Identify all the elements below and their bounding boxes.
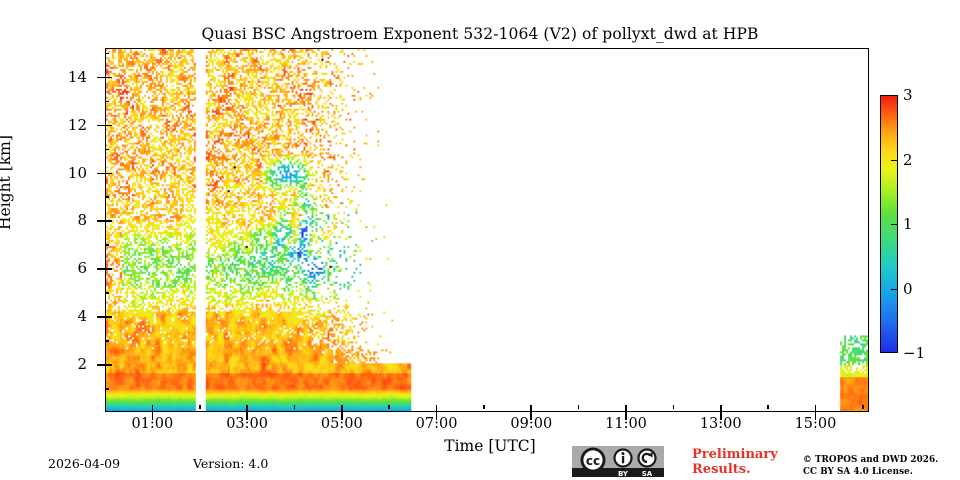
colorbar-tick-label: 2	[903, 151, 913, 169]
x-tick-mark	[436, 412, 438, 420]
heatmap-canvas	[106, 49, 868, 411]
y-tick-mark	[97, 173, 105, 175]
colorbar-tick-label: 1	[903, 215, 913, 233]
x-tick-mark-minor	[767, 405, 769, 409]
colorbar-tick-label: 0	[903, 280, 913, 298]
y-tick-mark	[105, 364, 112, 366]
x-tick-mark	[246, 405, 248, 412]
y-tick-mark	[97, 316, 105, 318]
page-title: Quasi BSC Angstroem Exponent 532-1064 (V…	[0, 25, 960, 43]
x-tick-mark	[530, 405, 532, 412]
plot-area	[105, 48, 869, 412]
preliminary-line-1: Preliminary	[692, 448, 778, 463]
colorbar-tick-mark	[891, 289, 898, 290]
colorbar-tick-mark	[891, 224, 898, 225]
y-tick-mark	[105, 173, 112, 175]
x-tick-mark	[436, 405, 438, 412]
x-tick-mark-minor	[483, 405, 485, 409]
x-tick-mark-minor	[862, 405, 864, 409]
y-tick-label: 14	[27, 68, 87, 86]
y-tick-mark-minor	[105, 340, 109, 342]
badge-by-label: BY	[618, 470, 629, 477]
x-tick-mark	[341, 405, 343, 412]
colorbar-tick-label: 3	[903, 86, 913, 104]
x-tick-mark	[246, 412, 248, 420]
y-tick-mark	[105, 125, 112, 127]
y-tick-mark	[97, 77, 105, 79]
x-tick-mark	[625, 405, 627, 412]
x-axis-label: Time [UTC]	[0, 437, 960, 455]
copyright-notice: © TROPOS and DWD 2026. CC BY SA 4.0 Lice…	[803, 455, 938, 478]
y-tick-mark	[105, 220, 112, 222]
x-tick-mark-minor	[294, 405, 296, 409]
x-tick-mark	[625, 412, 627, 420]
y-tick-label: 6	[27, 259, 87, 277]
y-tick-mark	[105, 268, 112, 270]
y-tick-mark	[105, 316, 112, 318]
preliminary-line-2: Results.	[692, 463, 778, 478]
y-tick-label: 8	[27, 211, 87, 229]
y-axis-label: Height [km]	[0, 135, 14, 230]
y-tick-mark-minor	[105, 101, 109, 103]
y-tick-label: 10	[27, 164, 87, 182]
copyright-line-1: © TROPOS and DWD 2026.	[803, 455, 938, 467]
y-tick-label: 4	[27, 307, 87, 325]
preliminary-notice: Preliminary Results.	[692, 448, 778, 477]
copyright-line-2: CC BY SA 4.0 License.	[803, 467, 938, 479]
cc-by-sa-badge[interactable]: cc BY SA	[572, 446, 664, 477]
y-tick-mark	[97, 268, 105, 270]
y-tick-label: 12	[27, 116, 87, 134]
y-tick-mark-minor	[105, 292, 109, 294]
y-tick-mark	[105, 77, 112, 79]
y-tick-mark	[97, 125, 105, 127]
y-tick-mark-minor	[105, 388, 109, 390]
x-tick-mark	[720, 412, 722, 420]
x-tick-mark	[815, 405, 817, 412]
y-tick-mark-minor	[105, 196, 109, 198]
x-tick-mark	[720, 405, 722, 412]
y-tick-mark-minor	[105, 149, 109, 151]
y-tick-mark-minor	[105, 244, 109, 246]
y-tick-label: 2	[27, 355, 87, 373]
y-tick-mark-minor	[105, 53, 109, 55]
x-tick-mark-minor	[578, 405, 580, 409]
version-label: Version: 4.0	[193, 456, 268, 471]
x-tick-mark	[152, 405, 154, 412]
x-tick-mark	[152, 412, 154, 420]
y-tick-mark	[97, 220, 105, 222]
x-tick-mark-minor	[673, 405, 675, 409]
badge-sa-label: SA	[642, 470, 653, 477]
svg-text:cc: cc	[586, 454, 600, 468]
colorbar-tick-label: −1	[903, 344, 925, 362]
x-tick-mark-minor	[199, 405, 201, 409]
colorbar-tick-mark	[891, 160, 898, 161]
x-tick-mark	[530, 412, 532, 420]
figure-canvas: Quasi BSC Angstroem Exponent 532-1064 (V…	[0, 0, 960, 480]
x-tick-mark	[815, 412, 817, 420]
x-tick-mark-minor	[388, 405, 390, 409]
plot-date: 2026-04-09	[48, 456, 120, 471]
y-tick-mark	[97, 364, 105, 366]
x-tick-mark	[341, 412, 343, 420]
